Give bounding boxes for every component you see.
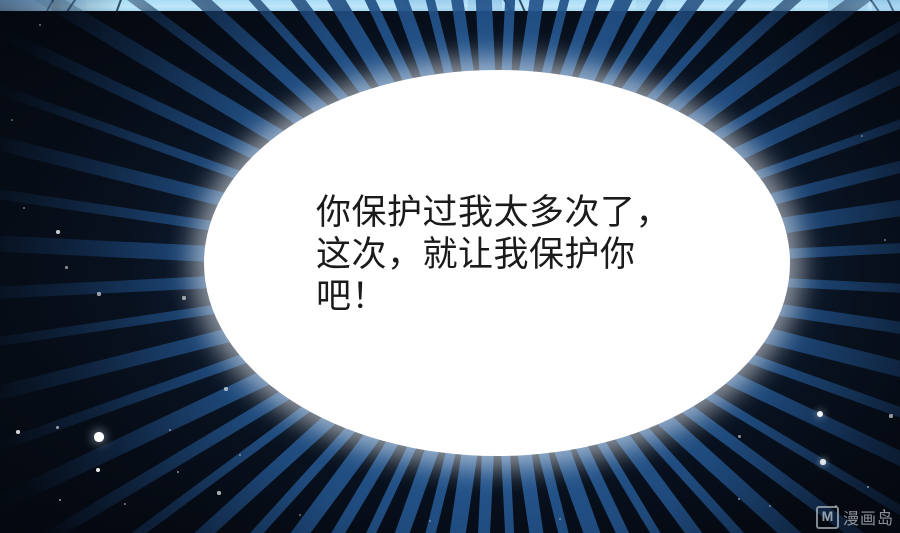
star-particle — [56, 426, 59, 429]
star-particle — [56, 230, 60, 234]
watermark: M 漫画岛 — [816, 505, 894, 529]
star-particle — [217, 491, 220, 494]
star-particle — [820, 459, 825, 464]
manga-panel: 你保护过我太多次了，这次，就让我保护你吧！ M 漫画岛 — [0, 0, 900, 533]
watermark-logo-icon: M — [816, 506, 839, 529]
dialogue-line-2: 这次，就让我保护你 — [316, 234, 736, 276]
star-particle — [224, 387, 227, 390]
watermark-site-name: 漫画岛 — [843, 505, 894, 529]
star-particle — [94, 432, 103, 441]
star-particle — [738, 435, 741, 438]
dialogue-line-1: 你保护过我太多次了， — [316, 192, 736, 234]
star-particle — [889, 414, 892, 417]
star-particle — [65, 266, 68, 269]
star-particle — [97, 292, 100, 295]
star-particle — [182, 296, 185, 299]
dialogue-text: 你保护过我太多次了，这次，就让我保护你吧！ — [316, 192, 736, 318]
dialogue-line-3: 吧！ — [316, 276, 736, 318]
